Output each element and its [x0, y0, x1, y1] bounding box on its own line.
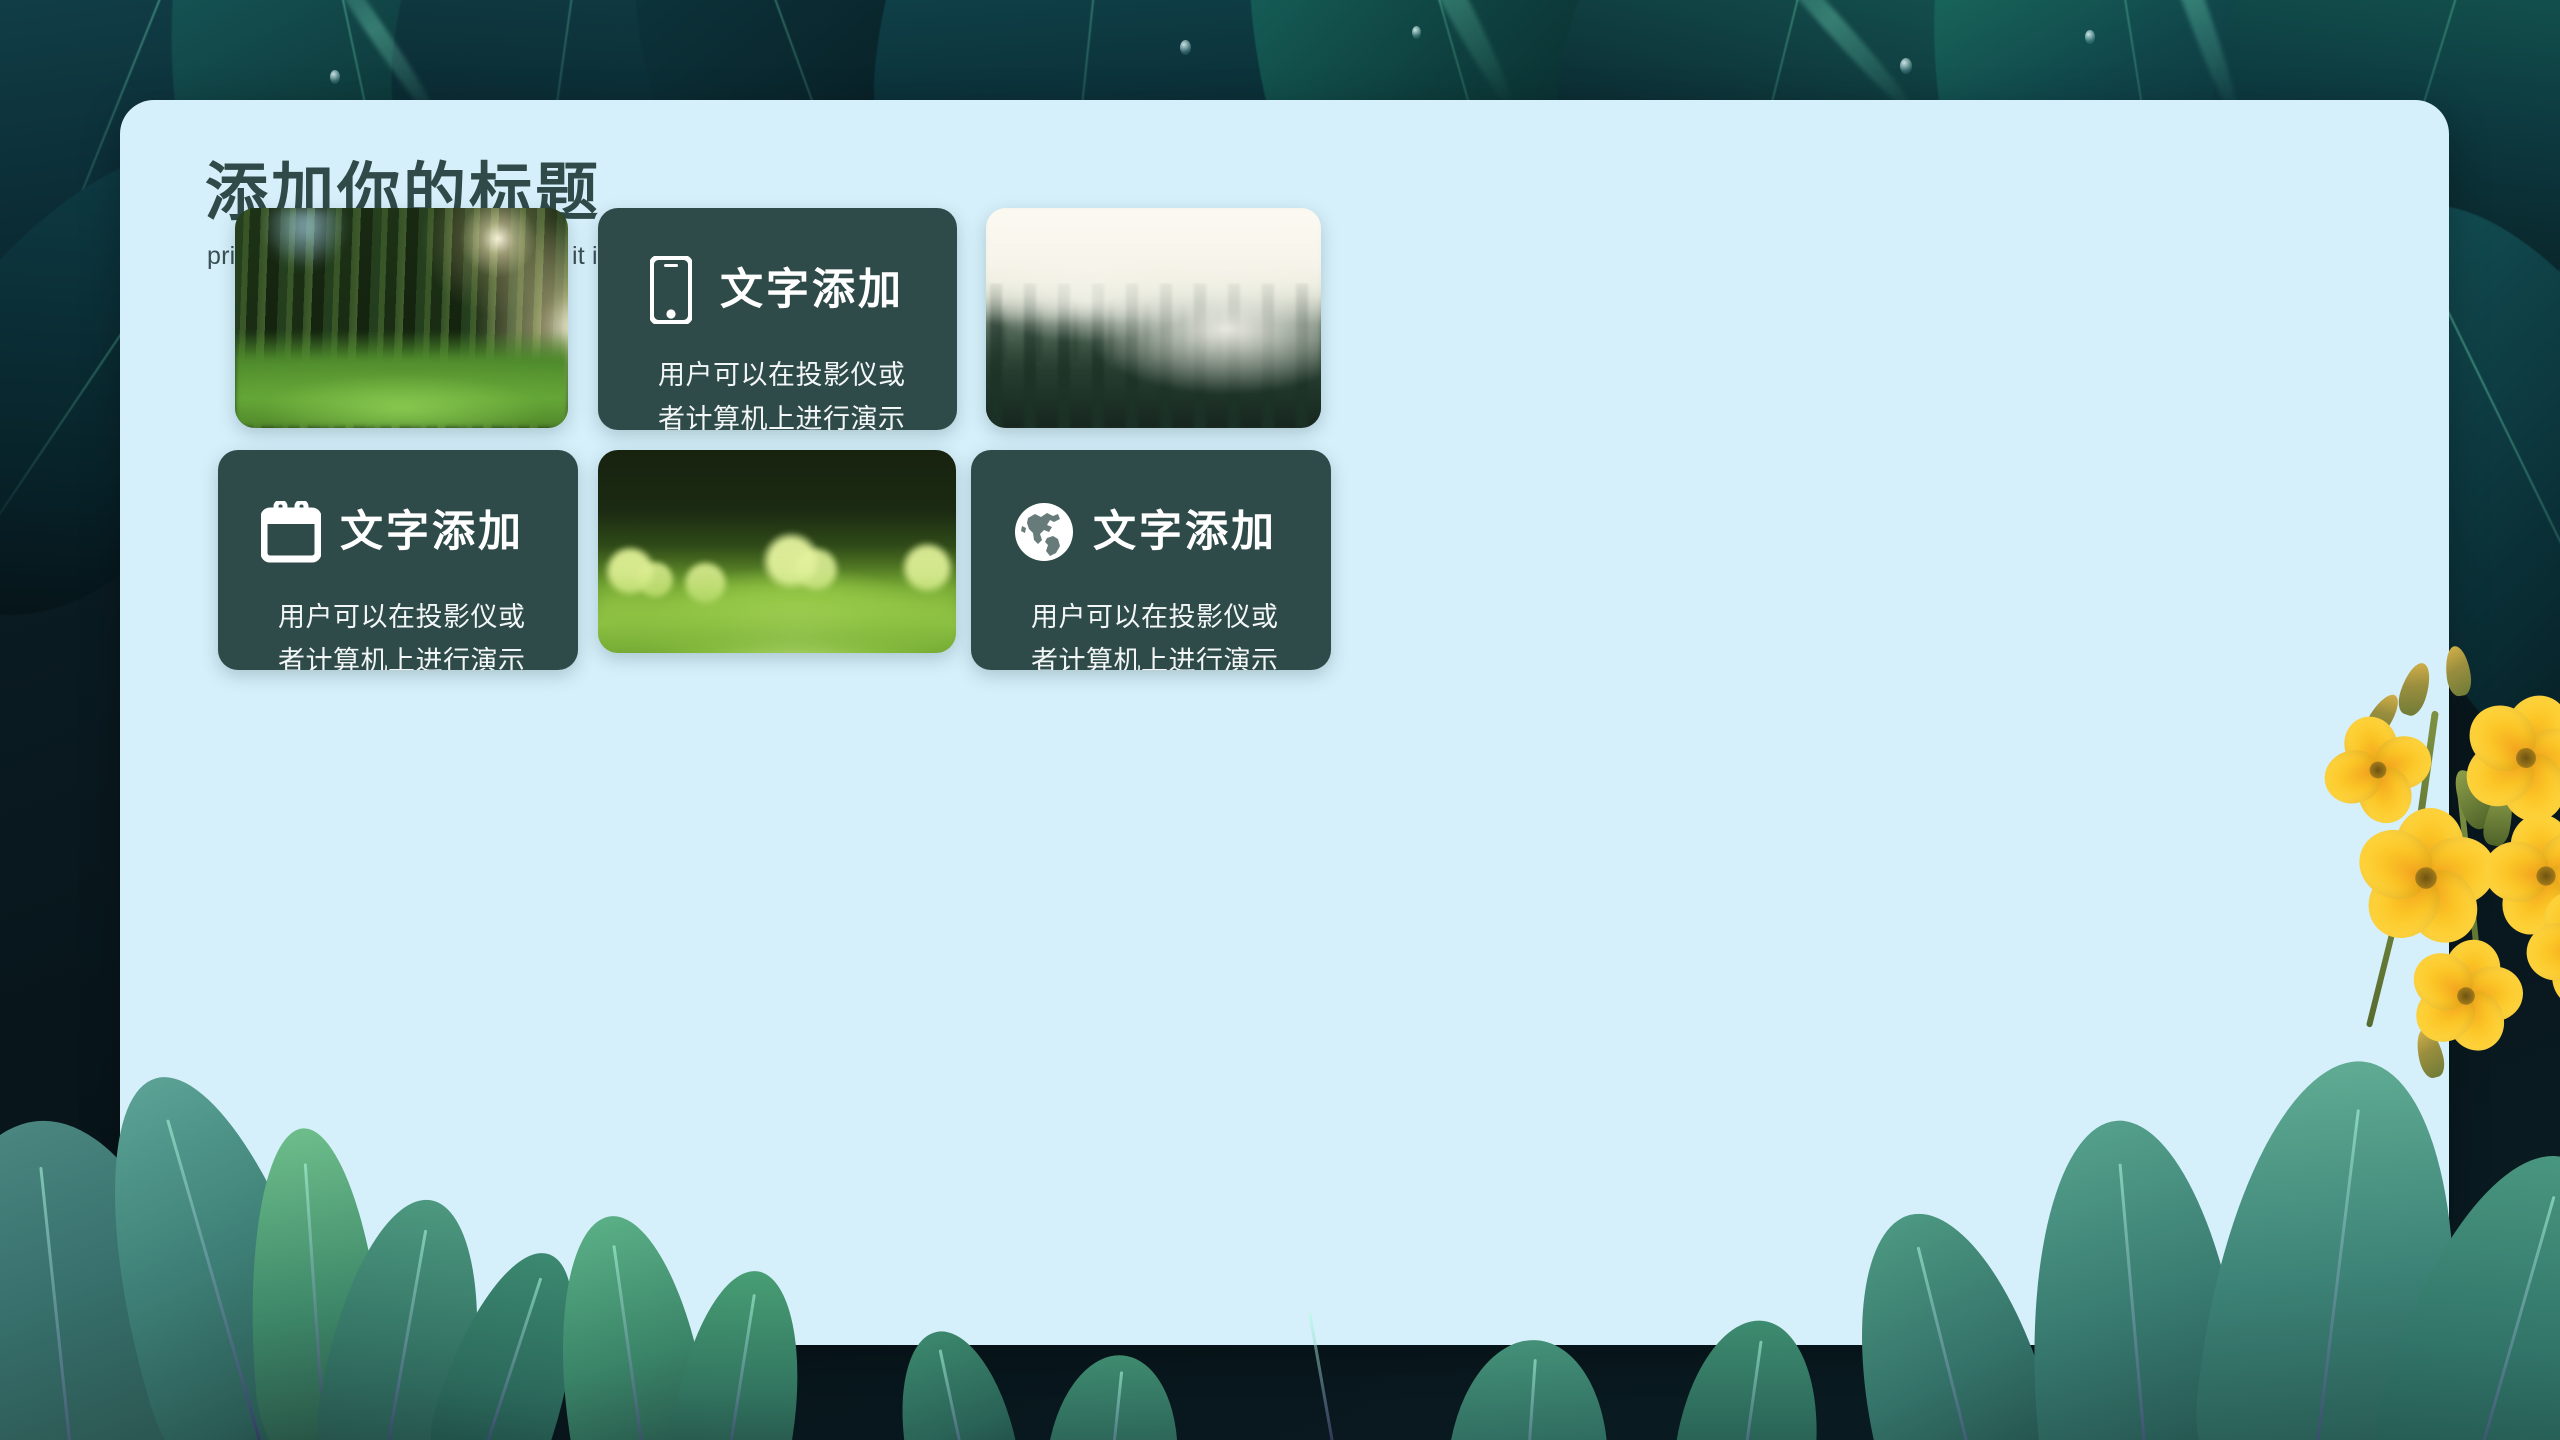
presentation-slide: 添加你的标题 print the presentation and make i…: [0, 0, 2560, 1440]
card-body-text: 用户可以在投影仪或者计算机上进行演示也可以将演示文稿打印出来: [658, 354, 917, 430]
smartphone-icon: [640, 253, 702, 327]
water-droplet: [1412, 26, 1421, 39]
photo-green-sprouts: [598, 450, 956, 653]
card-body-text: 用户可以在投影仪或者计算机上进行演示也可以将演示文稿打印出来: [1031, 596, 1291, 670]
water-droplet: [1900, 58, 1912, 74]
content-panel: 添加你的标题 print the presentation and make i…: [120, 100, 2449, 1345]
photo-foreground-blur: [598, 572, 956, 653]
card-body-text: 用户可以在投影仪或者计算机上进行演示也可以将演示文稿打印出来: [278, 596, 538, 670]
photo-sky-patch: [262, 208, 349, 270]
card-calendar[interactable]: 文字添加 用户可以在投影仪或者计算机上进行演示也可以将演示文稿打印出来: [218, 450, 578, 670]
water-droplet: [2085, 30, 2095, 44]
photo-forest-floor: [235, 331, 568, 428]
card-title: 文字添加: [720, 269, 904, 312]
card-title: 文字添加: [340, 511, 524, 554]
globe-icon: [1013, 495, 1075, 569]
tile-grid: 文字添加 用户可以在投影仪或者计算机上进行演示也可以将演示文稿打印出来: [120, 100, 2449, 1345]
photo-misty-forest: [986, 208, 1321, 428]
card-globe[interactable]: 文字添加 用户可以在投影仪或者计算机上进行演示也可以将演示文稿打印出来: [971, 450, 1331, 670]
card-title: 文字添加: [1093, 511, 1277, 554]
water-droplet: [330, 70, 340, 84]
water-droplet: [1180, 40, 1191, 55]
photo-fog: [986, 208, 1321, 428]
card-phone[interactable]: 文字添加 用户可以在投影仪或者计算机上进行演示也可以将演示文稿打印出来: [598, 208, 957, 430]
photo-sunlit-forest: [235, 208, 568, 428]
calendar-icon: [260, 495, 322, 569]
